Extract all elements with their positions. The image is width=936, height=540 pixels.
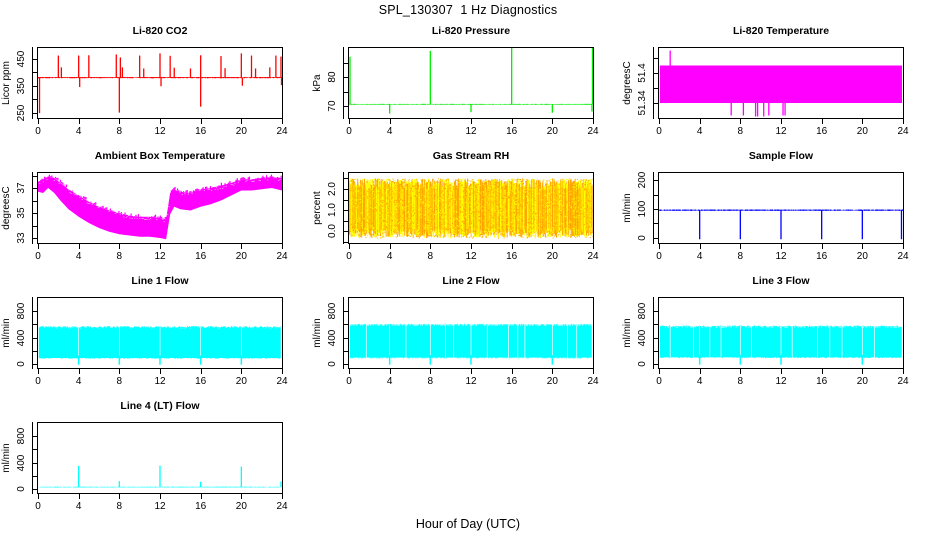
plot-area (348, 47, 594, 119)
panel-title: Li-820 Pressure (348, 25, 594, 37)
x-tick-label: 24 (268, 251, 296, 262)
y-tick-minor (654, 324, 658, 325)
x-tick (38, 369, 39, 374)
x-tick-label: 12 (146, 251, 174, 262)
x-tick-label: 8 (105, 126, 133, 137)
x-tick-label: 12 (146, 501, 174, 512)
x-tick (201, 119, 202, 124)
panel-title: Gas Stream RH (348, 150, 594, 162)
x-tick (512, 244, 513, 249)
panel-9: Line 3 Flow0400800ml/min04812162024 (621, 275, 932, 400)
x-tick (430, 119, 431, 124)
y-tick-minor (654, 351, 658, 352)
y-tick (653, 73, 658, 74)
x-tick-label: 0 (645, 126, 673, 137)
y-tick-minor (344, 242, 348, 243)
x-tick-label: 12 (767, 251, 795, 262)
x-tick (119, 369, 120, 374)
y-tick (32, 86, 37, 87)
x-tick-label: 8 (416, 376, 444, 387)
x-tick-label: 16 (187, 501, 215, 512)
x-tick-label: 20 (848, 376, 876, 387)
y-tick (32, 436, 37, 437)
plot-area (37, 47, 283, 119)
x-tick (390, 369, 391, 374)
x-tick (740, 244, 741, 249)
x-tick-label: 12 (457, 251, 485, 262)
plot-area (37, 172, 283, 244)
y-tick-minor (33, 72, 37, 73)
plot-trace (349, 173, 593, 243)
y-tick-minor (33, 99, 37, 100)
x-tick-label: 4 (376, 126, 404, 137)
x-tick (781, 119, 782, 124)
y-tick-label: 800 (15, 291, 29, 331)
x-tick-label: 12 (457, 126, 485, 137)
x-tick-label: 24 (889, 251, 917, 262)
y-tick-label: 51.4 (636, 53, 650, 93)
y-axis-label: ml/min (311, 298, 325, 368)
plot-trace (38, 423, 282, 493)
y-axis-label: ml/min (0, 298, 14, 368)
y-axis-line (32, 297, 33, 369)
y-tick-minor (33, 476, 37, 477)
y-tick (32, 238, 37, 239)
x-tick-label: 20 (848, 251, 876, 262)
x-tick (659, 369, 660, 374)
y-tick-minor (654, 58, 658, 59)
x-tick (390, 119, 391, 124)
panel-4: Ambient Box Temperature333537degreesC048… (0, 150, 311, 275)
y-tick (32, 364, 37, 365)
x-tick (740, 369, 741, 374)
panel-title: Line 1 Flow (37, 275, 283, 287)
y-tick (343, 189, 348, 190)
y-axis-label: ml/min (621, 173, 635, 243)
x-tick (552, 244, 553, 249)
y-tick (32, 113, 37, 114)
panel-5: Gas Stream RH0.01.02.0percent04812162024 (311, 150, 622, 275)
y-axis-label: ml/min (621, 298, 635, 368)
x-tick-label: 8 (105, 376, 133, 387)
plot-area (658, 297, 904, 369)
y-tick-label: 37 (15, 168, 29, 208)
y-axis-label: kPa (311, 48, 325, 118)
y-tick-label: 450 (15, 39, 29, 79)
x-tick (390, 244, 391, 249)
x-tick (38, 494, 39, 499)
x-tick-label: 16 (498, 251, 526, 262)
x-tick-label: 20 (538, 126, 566, 137)
y-tick-minor (344, 351, 348, 352)
x-tick-label: 0 (335, 251, 363, 262)
y-tick-minor (33, 201, 37, 202)
x-tick (79, 119, 80, 124)
y-tick (32, 311, 37, 312)
x-tick (822, 119, 823, 124)
y-axis-label: degreesC (0, 173, 14, 243)
x-tick (119, 119, 120, 124)
x-tick-label: 4 (376, 251, 404, 262)
x-tick (282, 119, 283, 124)
y-axis-line (32, 172, 33, 244)
y-axis-line (653, 297, 654, 369)
plot-area (348, 172, 594, 244)
figure-title: SPL_130307 1 Hz Diagnostics (0, 3, 936, 17)
y-tick (32, 213, 37, 214)
y-tick-label: 200 (636, 160, 650, 200)
y-axis-label: Licor ppm (0, 48, 14, 118)
panel-1: Li-820 CO2250350450Licor ppm04812162024 (0, 25, 311, 150)
y-axis-label: percent (311, 173, 325, 243)
y-tick (32, 188, 37, 189)
y-tick-minor (33, 176, 37, 177)
y-tick (343, 106, 348, 107)
x-tick-label: 0 (335, 126, 363, 137)
x-tick-label: 12 (767, 126, 795, 137)
x-tick (552, 119, 553, 124)
x-tick (512, 369, 513, 374)
y-tick-label: 80 (326, 57, 340, 97)
x-tick-label: 12 (146, 126, 174, 137)
x-tick (862, 119, 863, 124)
x-tick (241, 494, 242, 499)
x-tick (349, 369, 350, 374)
y-tick (653, 364, 658, 365)
x-tick (349, 119, 350, 124)
plot-area (348, 297, 594, 369)
y-tick-label: 800 (15, 416, 29, 456)
x-tick (862, 369, 863, 374)
x-tick (38, 244, 39, 249)
plot-trace (38, 173, 282, 243)
x-tick (160, 494, 161, 499)
x-tick-label: 16 (187, 126, 215, 137)
y-axis-line (343, 172, 344, 244)
x-tick (593, 369, 594, 374)
plot-trace (38, 48, 282, 118)
x-tick-label: 24 (889, 126, 917, 137)
x-tick (38, 119, 39, 124)
panel-title: Li-820 CO2 (37, 25, 283, 37)
y-tick (653, 209, 658, 210)
y-tick-minor (654, 88, 658, 89)
x-tick-label: 16 (187, 376, 215, 387)
y-tick-minor (33, 351, 37, 352)
y-tick (32, 59, 37, 60)
x-tick (781, 244, 782, 249)
x-tick-label: 8 (726, 376, 754, 387)
x-tick-label: 16 (808, 126, 836, 137)
x-tick (471, 244, 472, 249)
panel-title: Sample Flow (658, 150, 904, 162)
y-tick (32, 489, 37, 490)
x-tick-label: 8 (726, 126, 754, 137)
x-tick-label: 0 (24, 376, 52, 387)
y-axis-line (653, 172, 654, 244)
x-tick (593, 119, 594, 124)
panel-title: Line 4 (LT) Flow (37, 400, 283, 412)
x-tick-label: 4 (686, 126, 714, 137)
plot-trace (659, 173, 903, 243)
x-tick-label: 0 (24, 126, 52, 137)
x-tick-label: 24 (268, 376, 296, 387)
x-tick (119, 244, 120, 249)
x-tick (201, 244, 202, 249)
x-tick (79, 369, 80, 374)
x-tick-label: 24 (268, 501, 296, 512)
y-tick (653, 338, 658, 339)
x-tick-label: 4 (65, 501, 93, 512)
x-tick-label: 4 (65, 126, 93, 137)
y-tick (653, 238, 658, 239)
x-tick (160, 244, 161, 249)
y-tick-label: 800 (326, 291, 340, 331)
x-tick (241, 119, 242, 124)
x-tick-label: 20 (538, 251, 566, 262)
y-tick-minor (344, 63, 348, 64)
panel-title: Line 2 Flow (348, 275, 594, 287)
y-tick (653, 103, 658, 104)
y-tick (343, 338, 348, 339)
panel-2: Li-820 Pressure7080kPa04812162024 (311, 25, 622, 150)
x-tick (781, 369, 782, 374)
x-tick-label: 16 (498, 126, 526, 137)
x-tick-label: 0 (335, 376, 363, 387)
plot-trace (349, 48, 593, 118)
y-tick (343, 210, 348, 211)
y-tick-minor (654, 223, 658, 224)
x-tick-label: 12 (457, 376, 485, 387)
panel-10: Line 4 (LT) Flow0400800ml/min04812162024 (0, 400, 311, 525)
x-tick (700, 244, 701, 249)
y-tick (343, 77, 348, 78)
x-tick-label: 16 (498, 376, 526, 387)
x-tick-label: 12 (767, 376, 795, 387)
x-tick (241, 369, 242, 374)
x-tick-label: 20 (227, 251, 255, 262)
x-tick-label: 8 (105, 501, 133, 512)
x-tick (700, 119, 701, 124)
x-tick-label: 24 (579, 376, 607, 387)
x-tick-label: 20 (848, 126, 876, 137)
y-tick-label: 2.0 (326, 169, 340, 209)
y-tick-minor (344, 221, 348, 222)
x-tick (822, 244, 823, 249)
y-tick (343, 231, 348, 232)
y-axis-line (32, 422, 33, 494)
x-tick (201, 494, 202, 499)
y-tick (653, 180, 658, 181)
y-axis-line (343, 297, 344, 369)
y-tick (343, 311, 348, 312)
plot-trace (349, 298, 593, 368)
y-tick-minor (33, 449, 37, 450)
y-tick (32, 463, 37, 464)
x-tick-label: 24 (889, 376, 917, 387)
x-tick (659, 244, 660, 249)
plot-trace (659, 48, 903, 118)
x-tick-label: 4 (65, 376, 93, 387)
x-tick (119, 494, 120, 499)
x-tick-label: 24 (268, 126, 296, 137)
x-tick-label: 24 (579, 126, 607, 137)
x-tick (160, 119, 161, 124)
x-tick (349, 244, 350, 249)
y-tick-minor (344, 200, 348, 201)
x-tick (740, 119, 741, 124)
x-tick-label: 20 (227, 501, 255, 512)
x-tick (903, 244, 904, 249)
x-tick (241, 244, 242, 249)
y-axis-label: ml/min (0, 423, 14, 493)
x-tick (282, 369, 283, 374)
x-tick (552, 369, 553, 374)
y-tick-minor (33, 324, 37, 325)
x-tick-label: 8 (105, 251, 133, 262)
y-axis-label: degreesC (621, 48, 635, 118)
x-tick-label: 16 (808, 251, 836, 262)
x-tick (512, 119, 513, 124)
x-tick-label: 4 (686, 251, 714, 262)
plot-area (37, 422, 283, 494)
y-tick-label: 800 (636, 291, 650, 331)
diagnostics-figure: SPL_130307 1 Hz Diagnostics Hour of Day … (0, 0, 936, 540)
x-tick (659, 119, 660, 124)
panel-3: Li-820 Temperature51.3451.4degreesC04812… (621, 25, 932, 150)
x-tick (160, 369, 161, 374)
panel-6: Sample Flow0100200ml/min04812162024 (621, 150, 932, 275)
panel-7: Line 1 Flow0400800ml/min04812162024 (0, 275, 311, 400)
x-tick-label: 20 (227, 126, 255, 137)
x-tick-label: 20 (227, 376, 255, 387)
x-tick-label: 0 (24, 501, 52, 512)
y-axis-line (343, 47, 344, 119)
plot-trace (38, 298, 282, 368)
x-tick-label: 0 (24, 251, 52, 262)
plot-area (37, 297, 283, 369)
x-tick (79, 244, 80, 249)
x-tick (700, 369, 701, 374)
x-tick-label: 8 (416, 126, 444, 137)
plot-area (658, 47, 904, 119)
x-tick (282, 244, 283, 249)
x-tick-label: 8 (416, 251, 444, 262)
plot-trace (659, 298, 903, 368)
x-tick (430, 244, 431, 249)
panel-title: Line 3 Flow (658, 275, 904, 287)
x-tick (79, 494, 80, 499)
x-tick-label: 0 (645, 376, 673, 387)
x-tick (471, 119, 472, 124)
y-tick-minor (344, 324, 348, 325)
x-tick-label: 8 (726, 251, 754, 262)
panel-title: Ambient Box Temperature (37, 150, 283, 162)
x-tick (282, 494, 283, 499)
y-tick-minor (654, 195, 658, 196)
y-tick (343, 364, 348, 365)
x-tick-label: 16 (808, 376, 836, 387)
x-tick (862, 244, 863, 249)
x-tick (903, 369, 904, 374)
panel-title: Li-820 Temperature (658, 25, 904, 37)
y-tick (653, 311, 658, 312)
y-tick (32, 338, 37, 339)
x-tick-label: 4 (686, 376, 714, 387)
x-tick-label: 20 (538, 376, 566, 387)
x-tick (903, 119, 904, 124)
x-tick (593, 244, 594, 249)
panel-8: Line 2 Flow0400800ml/min04812162024 (311, 275, 622, 400)
x-tick-label: 12 (146, 376, 174, 387)
x-tick-label: 16 (187, 251, 215, 262)
x-tick-label: 4 (65, 251, 93, 262)
x-tick-label: 24 (579, 251, 607, 262)
x-tick (201, 369, 202, 374)
x-tick (430, 369, 431, 374)
y-tick-minor (344, 178, 348, 179)
plot-area (658, 172, 904, 244)
y-tick-minor (344, 92, 348, 93)
x-tick (471, 369, 472, 374)
y-tick-minor (33, 226, 37, 227)
x-tick-label: 0 (645, 251, 673, 262)
x-tick-label: 4 (376, 376, 404, 387)
x-tick (822, 369, 823, 374)
